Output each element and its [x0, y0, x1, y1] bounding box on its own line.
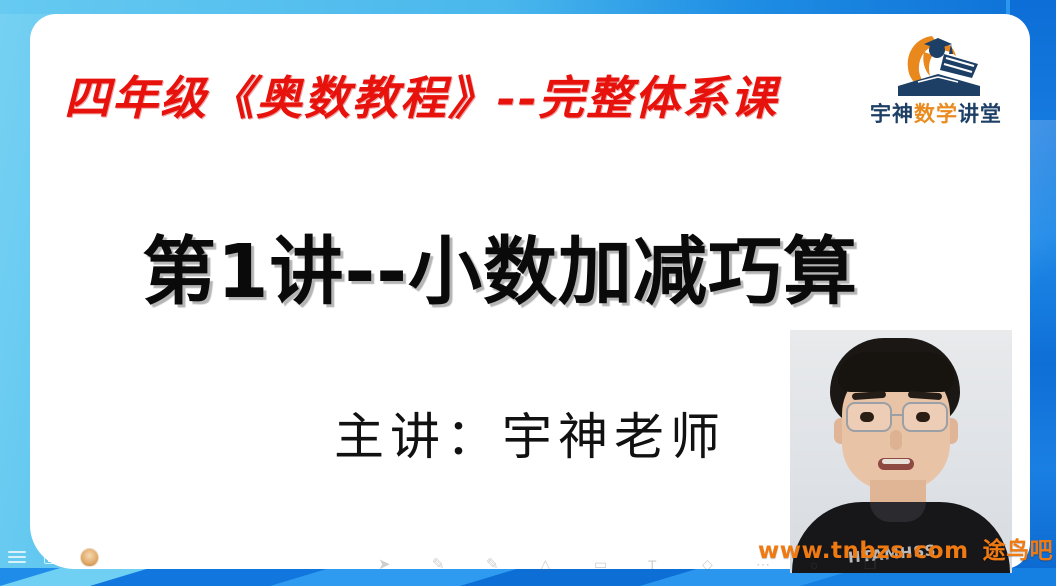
brand-name-part3: 讲堂 — [958, 102, 1002, 126]
cam-fringe — [838, 352, 954, 392]
hamburger-menu-icon[interactable] — [8, 551, 26, 564]
lesson-title: 第1讲--小数加减巧算 — [30, 212, 970, 319]
bottom-toolbar[interactable]: ➤ ✎ ✎ △ ▭ T ◇ ⋯ ○ ❐ — [0, 554, 1056, 576]
graduate-with-open-book-icon — [888, 30, 992, 100]
eraser-icon[interactable]: ▭ — [594, 556, 607, 573]
text-icon[interactable]: T — [648, 557, 657, 573]
highlighter-icon[interactable]: ✎ — [486, 555, 499, 573]
cam-eye-right — [916, 412, 930, 422]
cam-nose — [890, 430, 902, 450]
brand-name: 宇神数学讲堂 — [860, 98, 1012, 128]
brand-name-part1: 宇神 — [870, 102, 914, 126]
cursor-icon[interactable]: ➤ — [378, 555, 391, 573]
pen-icon[interactable]: ✎ — [432, 555, 445, 573]
restore-window-icon[interactable] — [44, 551, 60, 564]
user-avatar-icon[interactable] — [80, 548, 99, 567]
brand-name-part2: 数学 — [914, 102, 958, 126]
cam-teeth — [882, 459, 910, 464]
laser-icon[interactable]: ◇ — [702, 556, 713, 573]
top-blue-strip — [0, 0, 1056, 14]
slide-screen: 四年级《奥数教程》--完整体系课 第1讲--小数加减巧算 主讲：宇神老师 — [0, 0, 1056, 586]
more-icon[interactable]: ⋯ — [756, 556, 770, 573]
cam-eye-left — [860, 412, 874, 422]
cam-glasses-bridge — [891, 414, 903, 416]
lock-icon[interactable]: ○ — [810, 557, 818, 573]
screenshot-icon[interactable]: ❐ — [864, 556, 877, 573]
course-heading: 四年级《奥数教程》--完整体系课 — [64, 62, 904, 128]
brand-logo: 宇神数学讲堂 — [860, 30, 1012, 134]
shape-icon[interactable]: △ — [540, 556, 551, 573]
